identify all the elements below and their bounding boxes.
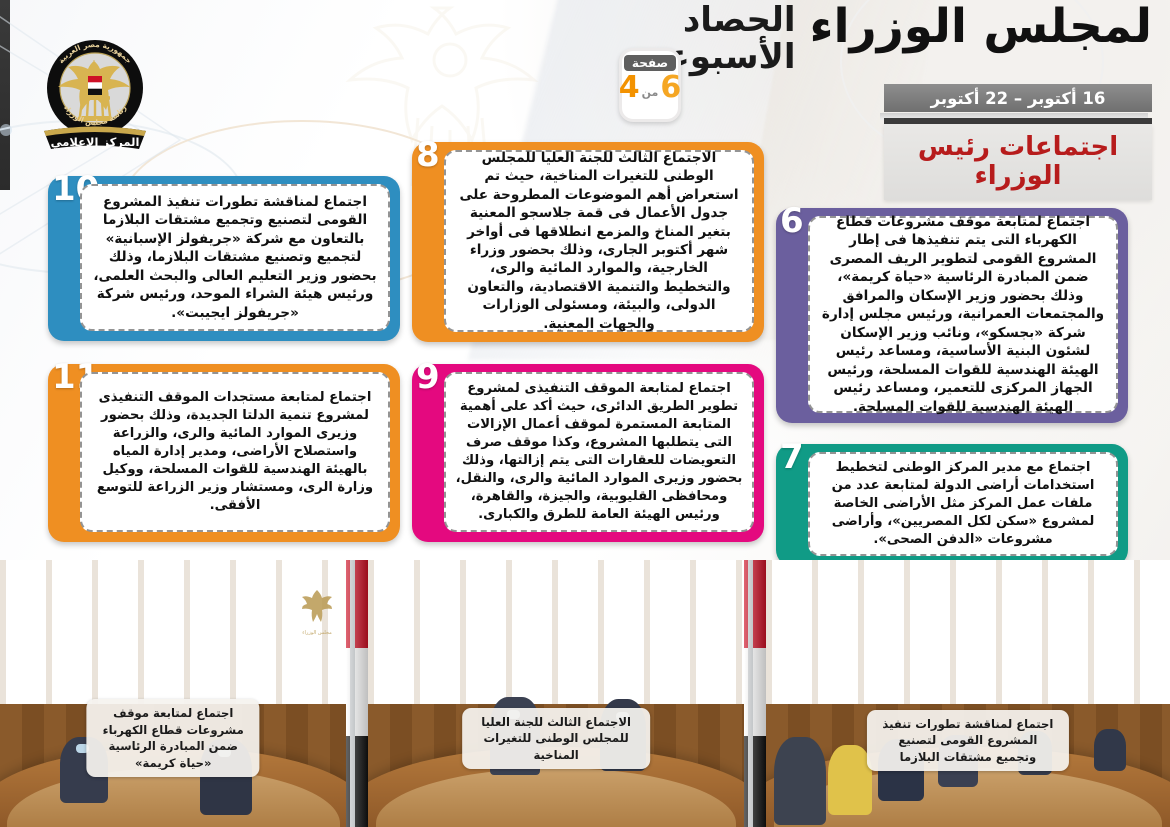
page-badge-total: 6	[660, 73, 681, 103]
photo-caption-1: اجتماع لمناقشة تطورات تنفيذ المشروع القو…	[867, 710, 1069, 771]
date-range-bar: 16 أكتوبر – 22 أكتوبر	[884, 84, 1152, 112]
photo-caption-3: اجتماع لمتابعة موقف مشروعات قطاع الكهربا…	[87, 699, 260, 777]
photo-band: اجتماع لمناقشة تطورات تنفيذ المشروع القو…	[0, 560, 1170, 827]
photo1-attendee	[1094, 729, 1126, 771]
meeting-photo-3: مجلس الوزراء اجتماع لمتابعة موقف مشروعات…	[0, 560, 346, 827]
meeting-photo-2: الاجتماع الثالث للجنة العليا للمجلس الوط…	[368, 560, 743, 827]
section-label-text: اجتماعات رئيس الوزراء	[884, 133, 1152, 191]
page-badge-numbers: 6 من 4	[619, 73, 681, 103]
flag-divider-1	[744, 560, 766, 827]
svg-text:مجلس الوزراء: مجلس الوزراء	[303, 630, 333, 636]
cabinet-media-center-logo: جمهورية مصر العربية رئاسة مجلس الوزراء ا…	[36, 36, 154, 156]
photo1-attendee	[828, 745, 872, 815]
info-card-9[interactable]: 9 اجتماع لمتابعة الموقف التنفيذى لمشروع …	[412, 364, 764, 542]
card-body-11: اجتماع لمتابعة مستجدات الموقف التنفيذى ل…	[80, 372, 390, 532]
card-number-9: 9	[416, 360, 440, 394]
date-range-text: 16 أكتوبر – 22 أكتوبر	[931, 89, 1106, 108]
card-text-9: اجتماع لمتابعة الموقف التنفيذى لمشروع تط…	[455, 380, 743, 524]
card-text-6: اجتماع لمتابعة موقف مشروعات قطاع الكهربا…	[819, 213, 1107, 416]
infographic-page: جمهورية مصر العربية رئاسة مجلس الوزراء ا…	[0, 0, 1170, 827]
flag-pole	[350, 560, 355, 827]
logo-banner-text: المركز الإعلامي	[51, 135, 140, 149]
page-badge-label: صفحة	[624, 55, 676, 71]
card-body-10: اجتماع لمناقشة تطورات تنفيذ المشروع القو…	[80, 184, 390, 331]
info-card-6[interactable]: 6 اجتماع لمتابعة موقف مشروعات قطاع الكهر…	[776, 208, 1128, 423]
title-block: لمجلس الوزراء الحصاد الأسبوعى	[632, 2, 1152, 75]
card-text-8: الاجتماع الثالث للجنة العليا للمجلس الوط…	[455, 149, 743, 334]
card-body-9: اجتماع لمتابعة الموقف التنفيذى لمشروع تط…	[444, 372, 754, 532]
card-body-6: اجتماع لمتابعة موقف مشروعات قطاع الكهربا…	[808, 216, 1118, 413]
flag-pole	[748, 560, 753, 827]
card-number-7: 7	[780, 440, 804, 474]
card-body-8: الاجتماع الثالث للجنة العليا للمجلس الوط…	[444, 150, 754, 332]
info-card-11[interactable]: 11 اجتماع لمتابعة مستجدات الموقف التنفيذ…	[48, 364, 400, 542]
card-number-8: 8	[416, 138, 440, 172]
header-band: جمهورية مصر العربية رئاسة مجلس الوزراء ا…	[0, 0, 1170, 560]
wall-emblem-icon: مجلس الوزراء	[302, 586, 332, 640]
photo-caption-2: الاجتماع الثالث للجنة العليا للمجلس الوط…	[462, 708, 650, 769]
page-badge-current: 4	[619, 73, 640, 103]
title-main-left: لمجلس الوزراء	[810, 2, 1153, 51]
photo2-wall-panels	[368, 560, 743, 704]
card-text-11: اجتماع لمتابعة مستجدات الموقف التنفيذى ل…	[91, 389, 379, 515]
photo3-wall-panels	[0, 560, 346, 704]
info-card-7[interactable]: 7 اجتماع مع مدير المركز الوطنى لتخطيط اس…	[776, 444, 1128, 560]
photo1-wall-panels	[766, 560, 1170, 704]
card-number-6: 6	[780, 204, 804, 238]
info-card-10[interactable]: 10 اجتماع لمناقشة تطورات تنفيذ المشروع ا…	[48, 176, 400, 341]
card-body-7: اجتماع مع مدير المركز الوطنى لتخطيط استخ…	[808, 452, 1118, 556]
card-text-10: اجتماع لمناقشة تطورات تنفيذ المشروع القو…	[91, 193, 379, 322]
flag-divider-2	[346, 560, 368, 827]
page-number-badge: صفحة 6 من 4	[619, 48, 681, 122]
meeting-photo-1: اجتماع لمناقشة تطورات تنفيذ المشروع القو…	[766, 560, 1170, 827]
card-text-7: اجتماع مع مدير المركز الوطنى لتخطيط استخ…	[819, 459, 1107, 549]
title-line-1: الحصاد	[632, 2, 795, 39]
page-badge-of-word: من	[642, 86, 659, 103]
section-label-box: اجتماعات رئيس الوزراء	[884, 124, 1152, 200]
photo1-attendee	[774, 737, 826, 825]
info-card-8[interactable]: 8 الاجتماع الثالث للجنة العليا للمجلس ال…	[412, 142, 764, 342]
